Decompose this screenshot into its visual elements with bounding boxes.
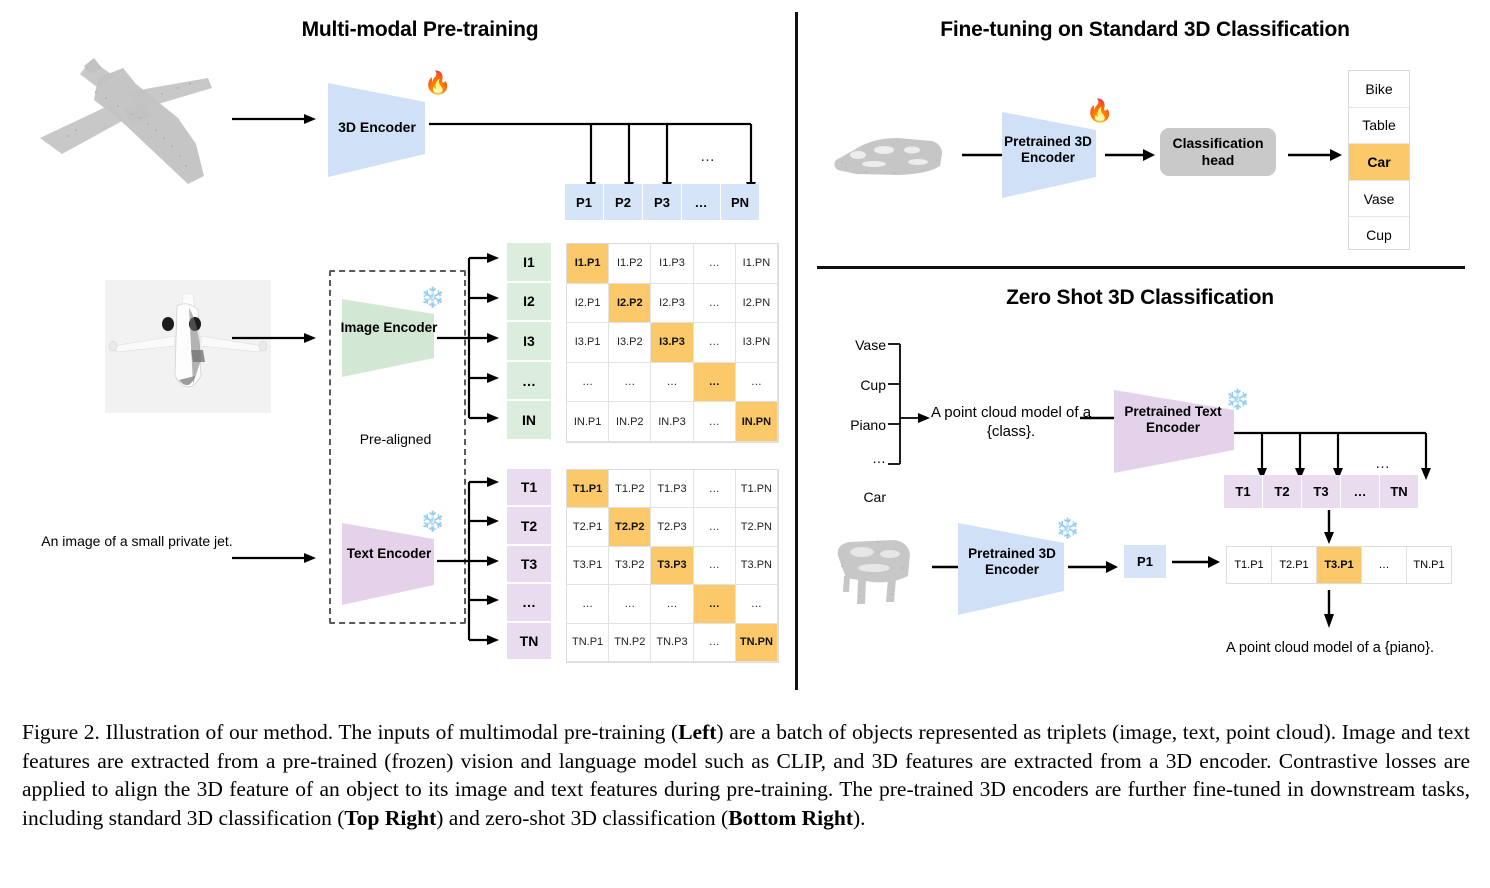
class-list-item[interactable]: Table bbox=[1349, 108, 1409, 145]
matrix-cell: … bbox=[694, 284, 736, 324]
feature-cell: T2 bbox=[507, 507, 551, 545]
input-text-caption: An image of a small private jet. bbox=[32, 533, 242, 551]
caption-part-4: ). bbox=[853, 806, 866, 830]
feature-chip: T1 bbox=[1224, 475, 1263, 508]
feature-chip: … bbox=[682, 184, 721, 220]
image-thumbnail-jet bbox=[105, 280, 271, 413]
matrix-cell: … bbox=[651, 363, 693, 403]
matrix-cell: I2.P1 bbox=[567, 284, 609, 324]
matrix-cell: I3.P3 bbox=[651, 323, 693, 363]
point-cloud-piano bbox=[832, 530, 918, 612]
feature-chip: … bbox=[1341, 475, 1380, 508]
ellipsis-t-bus-zeroshot: … bbox=[1375, 455, 1390, 472]
caption-bold-bottom-right: Bottom Right bbox=[728, 806, 853, 830]
matrix-cell: T1.P3 bbox=[651, 470, 693, 508]
caption-part-1: Figure 2. Illustration of our method. Th… bbox=[22, 720, 678, 744]
vertical-divider bbox=[795, 12, 798, 690]
panel-title-top-right: Fine-tuning on Standard 3D Classificatio… bbox=[880, 18, 1410, 42]
arrow-pointcloud-to-encoder bbox=[232, 112, 318, 126]
bus-text-to-t-features bbox=[437, 477, 505, 653]
matrix-cell: TN.P1 bbox=[567, 624, 609, 662]
arrow-p1-to-similarity bbox=[1172, 555, 1222, 569]
matrix-cell: T2.P2 bbox=[609, 508, 651, 546]
image-similarity-matrix: I1.P1I1.P2I1.P3…I1.PNI2.P1I2.P2I2.P3…I2.… bbox=[566, 243, 779, 443]
matrix-cell: I1.PN bbox=[736, 244, 778, 284]
pretrained-3d-encoder-shape-bottom bbox=[956, 521, 1068, 617]
matrix-cell: … bbox=[694, 470, 736, 508]
matrix-cell: … bbox=[609, 585, 651, 623]
text-encoder-shape bbox=[340, 521, 438, 607]
feature-chip: PN bbox=[721, 184, 759, 220]
caption-part-3: ) and zero-shot 3D classification ( bbox=[436, 806, 728, 830]
zero-shot-class-name: Piano bbox=[828, 417, 886, 433]
matrix-cell: … bbox=[694, 508, 736, 546]
encoder-3d-shape bbox=[325, 80, 429, 180]
t-feature-row-zeroshot: T1T2T3…TN bbox=[1224, 475, 1418, 508]
arrow-encoder-to-p1 bbox=[1068, 560, 1120, 574]
feature-cell: … bbox=[507, 584, 551, 622]
figure-caption: Figure 2. Illustration of our method. Th… bbox=[22, 718, 1470, 832]
similarity-cell: TN.P1 bbox=[1407, 547, 1451, 583]
feature-chip: P3 bbox=[643, 184, 682, 220]
similarity-cell: … bbox=[1362, 547, 1407, 583]
matrix-cell: I1.P1 bbox=[567, 244, 609, 284]
zero-shot-result-text: A point cloud model of a {piano}. bbox=[1185, 639, 1475, 657]
matrix-cell: T1.PN bbox=[736, 470, 778, 508]
matrix-cell: I3.P1 bbox=[567, 323, 609, 363]
p1-feature-chip: P1 bbox=[1124, 545, 1166, 578]
class-list-item[interactable]: Vase bbox=[1349, 181, 1409, 218]
matrix-cell: TN.P3 bbox=[651, 624, 693, 662]
text-similarity-matrix: T1.P1T1.P2T1.P3…T1.PNT2.P1T2.P2T2.P3…T2.… bbox=[566, 469, 779, 663]
matrix-cell: … bbox=[736, 363, 778, 403]
matrix-cell: … bbox=[567, 585, 609, 623]
matrix-cell: I3.P2 bbox=[609, 323, 651, 363]
matrix-cell: IN.P3 bbox=[651, 402, 693, 442]
ellipsis-p-bus: … bbox=[700, 148, 715, 165]
similarity-cell: T1.P1 bbox=[1227, 547, 1272, 583]
feature-chip: P1 bbox=[565, 184, 604, 220]
feature-cell: T3 bbox=[507, 546, 551, 584]
matrix-cell: I3.PN bbox=[736, 323, 778, 363]
matrix-cell: I2.P2 bbox=[609, 284, 651, 324]
similarity-cell: T2.P1 bbox=[1272, 547, 1317, 583]
p-feature-row: P1P2P3…PN bbox=[565, 184, 759, 220]
matrix-cell: I2.P3 bbox=[651, 284, 693, 324]
arrow-text-to-encoder bbox=[232, 551, 318, 565]
snowflake-icon-text-encoder-zeroshot: ❄️ bbox=[1225, 390, 1250, 410]
point-cloud-car bbox=[828, 132, 946, 184]
matrix-cell: … bbox=[609, 363, 651, 403]
horizontal-divider bbox=[817, 266, 1465, 269]
matrix-cell: T3.P2 bbox=[609, 547, 651, 585]
matrix-cell: T3.PN bbox=[736, 547, 778, 585]
class-list-item[interactable]: Car bbox=[1349, 144, 1409, 181]
matrix-cell: I1.P3 bbox=[651, 244, 693, 284]
t-feature-column: T1T2T3…TN bbox=[507, 469, 551, 661]
matrix-cell: TN.P2 bbox=[609, 624, 651, 662]
matrix-cell: T1.P2 bbox=[609, 470, 651, 508]
feature-cell: … bbox=[507, 362, 551, 402]
matrix-cell: T3.P3 bbox=[651, 547, 693, 585]
matrix-cell: IN.PN bbox=[736, 402, 778, 442]
arrow-head-to-classes bbox=[1288, 148, 1344, 162]
matrix-cell: IN.P1 bbox=[567, 402, 609, 442]
matrix-cell: … bbox=[694, 323, 736, 363]
matrix-cell: … bbox=[567, 363, 609, 403]
matrix-cell: IN.P2 bbox=[609, 402, 651, 442]
feature-chip: TN bbox=[1380, 475, 1418, 508]
matrix-cell: … bbox=[694, 585, 736, 623]
caption-bold-left: Left bbox=[678, 720, 716, 744]
feature-chip: T2 bbox=[1263, 475, 1302, 508]
matrix-cell: T2.PN bbox=[736, 508, 778, 546]
matrix-cell: TN.PN bbox=[736, 624, 778, 662]
bus-image-to-i-features bbox=[437, 252, 505, 432]
zero-shot-class-name: … bbox=[828, 450, 886, 466]
matrix-cell: T2.P1 bbox=[567, 508, 609, 546]
feature-cell: I2 bbox=[507, 283, 551, 323]
zero-shot-class-name: Car bbox=[828, 489, 886, 505]
pre-aligned-label: Pre-aligned bbox=[329, 431, 462, 447]
fire-icon-finetune: 🔥 bbox=[1086, 100, 1113, 122]
matrix-cell: I2.PN bbox=[736, 284, 778, 324]
matrix-cell: I1.P2 bbox=[609, 244, 651, 284]
pretrained-text-encoder-shape bbox=[1112, 388, 1238, 475]
matrix-cell: … bbox=[694, 624, 736, 662]
class-list-top-right: BikeTableCarVaseCup bbox=[1348, 70, 1410, 250]
arrow-t-row-to-similarity bbox=[1322, 510, 1336, 546]
arrow-similarity-to-result bbox=[1322, 590, 1336, 630]
zero-shot-class-name: Cup bbox=[828, 377, 886, 393]
matrix-cell: … bbox=[736, 585, 778, 623]
feature-cell: I1 bbox=[507, 243, 551, 283]
zero-shot-class-name: Vase bbox=[828, 337, 886, 353]
pretrained-3d-encoder-shape-top bbox=[1000, 110, 1100, 200]
feature-cell: T1 bbox=[507, 469, 551, 507]
feature-cell: IN bbox=[507, 401, 551, 441]
matrix-cell: T2.P3 bbox=[651, 508, 693, 546]
i-feature-column: I1I2I3…IN bbox=[507, 243, 551, 441]
matrix-cell: … bbox=[694, 244, 736, 284]
panel-title-left: Multi-modal Pre-training bbox=[200, 18, 640, 42]
prompt-template-text: A point cloud model of a {class}. bbox=[918, 404, 1104, 442]
caption-bold-top-right: Top Right bbox=[344, 806, 436, 830]
similarity-cell: T3.P1 bbox=[1317, 547, 1362, 583]
feature-chip: T3 bbox=[1302, 475, 1341, 508]
feature-cell: I3 bbox=[507, 322, 551, 362]
matrix-cell: … bbox=[694, 547, 736, 585]
snowflake-icon-3d-encoder-zeroshot: ❄️ bbox=[1055, 519, 1080, 539]
class-list-item[interactable]: Bike bbox=[1349, 71, 1409, 108]
point-cloud-airplane bbox=[28, 48, 243, 208]
arrow-image-to-encoder bbox=[232, 331, 318, 345]
class-list-item[interactable]: Cup bbox=[1349, 217, 1409, 253]
matrix-cell: T3.P1 bbox=[567, 547, 609, 585]
figure-body: Multi-modal Pre-training bbox=[0, 0, 1490, 710]
fire-icon-pretraining: 🔥 bbox=[424, 72, 451, 94]
matrix-cell: … bbox=[694, 363, 736, 403]
matrix-cell: … bbox=[694, 402, 736, 442]
arrow-encoder-to-head bbox=[1105, 148, 1157, 162]
feature-cell: TN bbox=[507, 623, 551, 661]
matrix-cell: T1.P1 bbox=[567, 470, 609, 508]
classification-head-box: Classification head bbox=[1160, 128, 1276, 176]
panel-title-bottom-right: Zero Shot 3D Classification bbox=[910, 286, 1370, 310]
feature-chip: P2 bbox=[604, 184, 643, 220]
image-encoder-shape bbox=[340, 297, 438, 379]
similarity-row: T1.P1T2.P1T3.P1…TN.P1 bbox=[1226, 546, 1452, 584]
matrix-cell: … bbox=[651, 585, 693, 623]
